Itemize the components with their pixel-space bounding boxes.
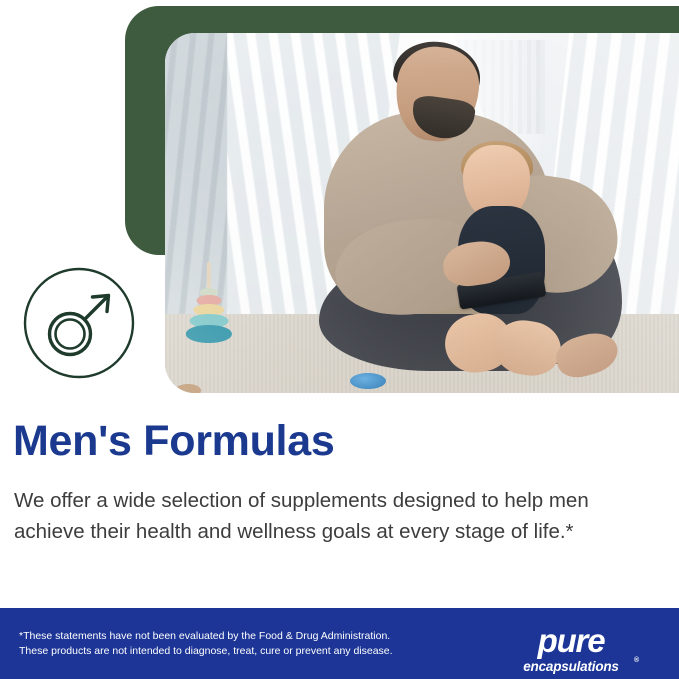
brand-name-secondary: encapsulations ® — [511, 660, 631, 674]
brand-secondary-text: encapsulations — [523, 659, 618, 674]
hero-photo — [165, 33, 679, 393]
pure-encapsulations-logo: pure encapsulations ® — [511, 624, 631, 674]
photo-stacking-ring-toy — [186, 263, 232, 342]
brand-name-primary: pure — [511, 624, 631, 657]
footer-bar: *These statements have not been evaluate… — [0, 608, 679, 679]
registered-trademark-icon: ® — [634, 657, 639, 664]
page-description: We offer a wide selection of supplements… — [14, 485, 654, 547]
hero-image-frame — [165, 33, 679, 393]
page-title: Men's Formulas — [13, 417, 334, 465]
fda-disclaimer-text: *These statements have not been evaluate… — [19, 629, 393, 659]
male-symbol-icon — [23, 267, 135, 379]
photo-wooden-ball-toy — [175, 384, 201, 393]
